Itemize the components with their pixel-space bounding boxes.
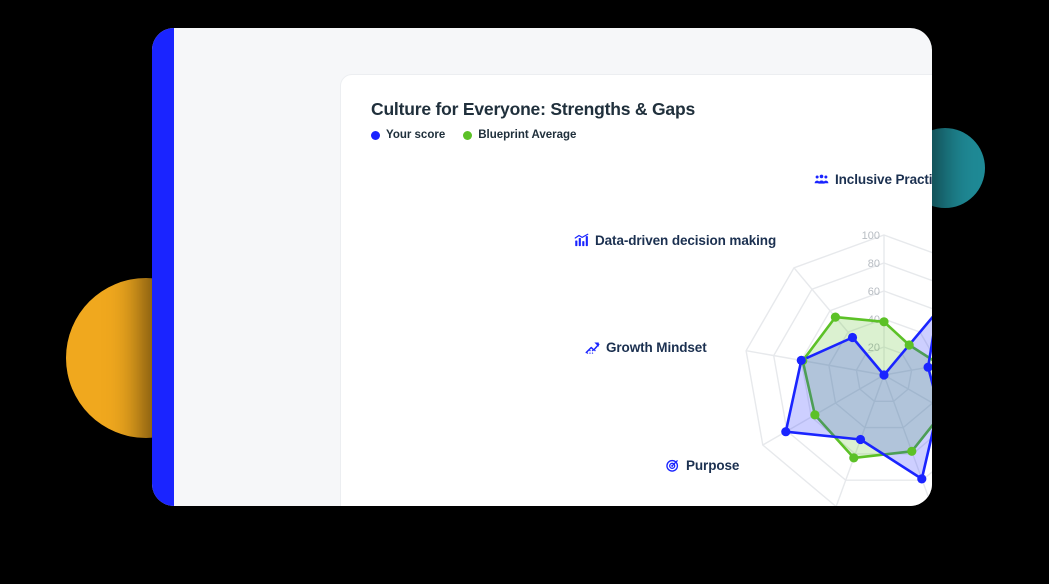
radar-point[interactable] (879, 317, 888, 326)
axis-label-text: Purpose (686, 458, 739, 473)
radar-point[interactable] (781, 427, 790, 436)
legend-label-your-score: Your score (386, 129, 445, 141)
radar-chart-svg: 20406080100 (341, 153, 932, 506)
axis-label-text: Data-driven decision making (595, 233, 776, 248)
radar-point[interactable] (849, 453, 858, 462)
radar-point[interactable] (907, 447, 916, 456)
radar-chart-plot: 20406080100 Inclusive Practices (341, 153, 932, 506)
radar-point[interactable] (917, 474, 926, 483)
axis-label-inclusive-practices[interactable]: Inclusive Practices (814, 172, 932, 187)
axis-label-text: Inclusive Practices (835, 172, 932, 187)
radar-point[interactable] (856, 435, 865, 444)
radar-point[interactable] (848, 333, 857, 342)
axis-label-growth-mindset[interactable]: Growth Mindset (585, 340, 707, 355)
device-left-edge-bar (152, 28, 174, 506)
legend-dot-blue-icon (371, 131, 380, 140)
axis-label-data-driven-decision-making[interactable]: Data-driven decision making (574, 233, 776, 248)
target-icon (665, 458, 680, 473)
people-group-icon (814, 172, 829, 187)
axis-label-purpose[interactable]: Purpose (665, 458, 739, 473)
radar-point[interactable] (810, 410, 819, 419)
radar-point[interactable] (831, 313, 840, 322)
bar-chart-icon (574, 233, 589, 248)
tablet-device-frame: Culture for Everyone: Strengths & Gaps Y… (152, 28, 932, 506)
legend-item-your-score[interactable]: Your score (371, 129, 445, 141)
radar-tick-label: 80 (868, 258, 880, 270)
chart-legend: Your score Blueprint Average (371, 129, 576, 141)
axis-label-text: Growth Mindset (606, 340, 707, 355)
trending-up-icon (585, 340, 600, 355)
radar-tick-label: 100 (862, 230, 880, 242)
legend-label-blueprint-average: Blueprint Average (478, 129, 576, 141)
legend-item-blueprint-average[interactable]: Blueprint Average (463, 129, 576, 141)
radar-point[interactable] (879, 370, 888, 379)
chart-title: Culture for Everyone: Strengths & Gaps (371, 99, 695, 120)
chart-card: Culture for Everyone: Strengths & Gaps Y… (340, 74, 932, 506)
radar-point[interactable] (797, 356, 806, 365)
radar-tick-label: 60 (868, 286, 880, 298)
screenshot-stage: Culture for Everyone: Strengths & Gaps Y… (0, 0, 1049, 584)
radar-point[interactable] (905, 340, 914, 349)
legend-dot-green-icon (463, 131, 472, 140)
